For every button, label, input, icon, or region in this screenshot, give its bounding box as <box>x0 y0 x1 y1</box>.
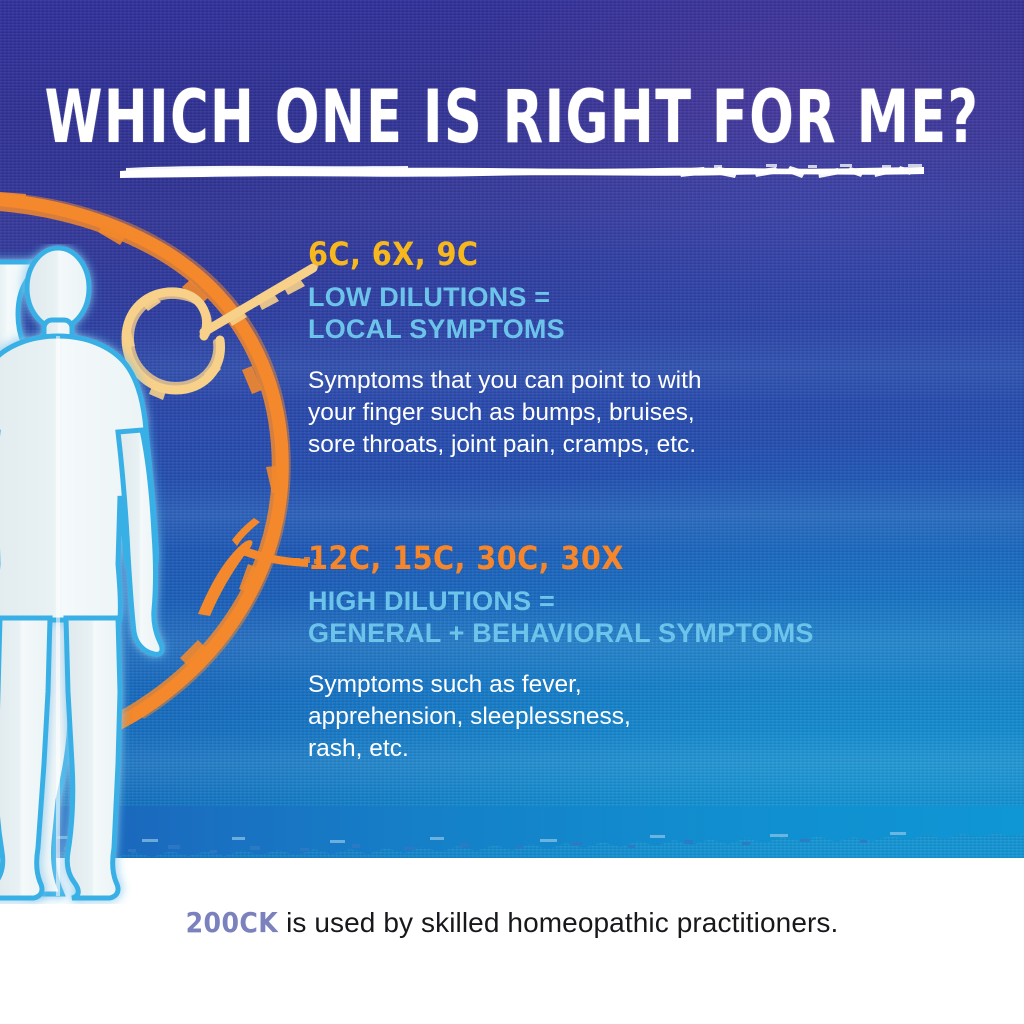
section-high-kicker: 12C, 15C, 30C, 30X <box>308 540 814 576</box>
infographic-poster: WHICH ONE IS RIGHT FOR ME? 6C, 6X, 9C <box>0 0 1024 1024</box>
section-high-dilutions: 12C, 15C, 30C, 30X HIGH DILUTIONS = GENE… <box>308 540 814 765</box>
brush-underline-icon <box>118 163 928 185</box>
section-high-subhead: HIGH DILUTIONS = GENERAL + BEHAVIORAL SY… <box>308 585 814 649</box>
section-low-dilutions: 6C, 6X, 9C LOW DILUTIONS = LOCAL SYMPTOM… <box>308 236 702 461</box>
footer-rest: is used by skilled homeopathic practitio… <box>278 907 838 938</box>
footer-note: 200CK is used by skilled homeopathic pra… <box>0 905 1024 941</box>
section-low-body: Symptoms that you can point to with your… <box>308 365 702 461</box>
section-low-kicker: 6C, 6X, 9C <box>308 236 702 272</box>
page-title: WHICH ONE IS RIGHT FOR ME? <box>15 80 1008 156</box>
human-body-silhouette-icon <box>0 244 238 904</box>
footer-highlight: 200CK <box>186 906 279 939</box>
page-title-wrap: WHICH ONE IS RIGHT FOR ME? <box>0 80 1024 142</box>
section-low-subhead: LOW DILUTIONS = LOCAL SYMPTOMS <box>308 281 702 345</box>
section-high-body: Symptoms such as fever, apprehension, sl… <box>308 669 814 765</box>
